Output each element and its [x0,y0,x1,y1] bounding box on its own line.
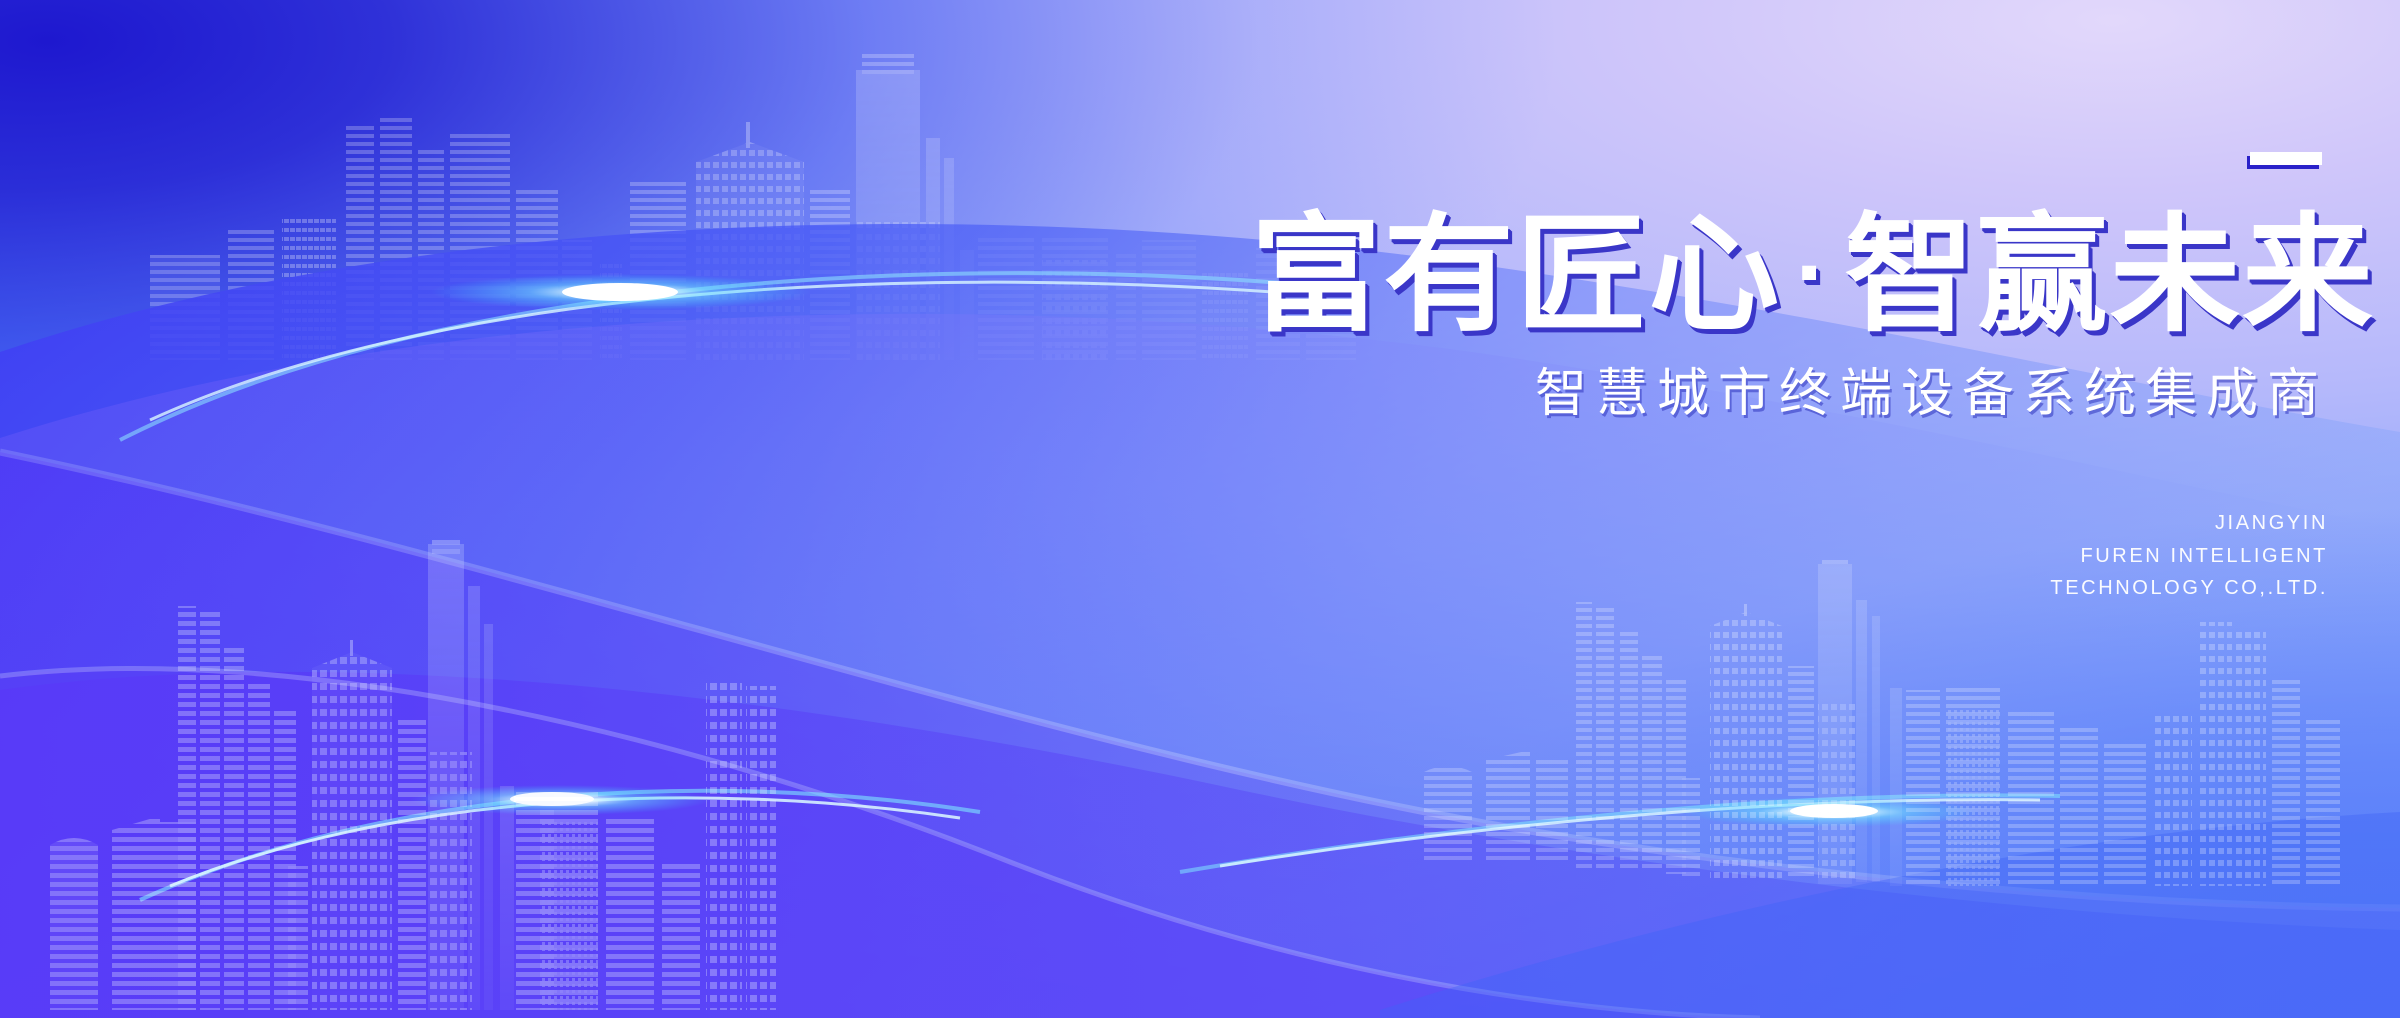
banner-canvas: 富有匠心·智赢未来 智慧城市终端设备系统集成商 JIANGYIN FUREN I… [0,0,2400,1018]
company-suffix: TECHNOLOGY CO,.LTD. [1272,572,2328,604]
page-subtitle: 智慧城市终端设备系统集成商 [1272,366,2328,423]
brand-text-block: 富有匠心·智赢未来 智慧城市终端设备系统集成商 JIANGYIN FUREN I… [1272,152,2332,604]
company-name-block: JIANGYIN FUREN INTELLIGENT TECHNOLOGY CO… [1272,507,2332,604]
city-skyline-bottom-left [20,540,780,1010]
company-city: JIANGYIN [1272,507,2328,539]
headline-right: 智赢未来 [1844,204,2374,347]
page-title: 富有匠心·智赢未来 [1251,212,2332,340]
company-name: FUREN INTELLIGENT [1272,540,2328,572]
headline-left: 富有匠心 [1251,204,1781,347]
accent-dash-icon [2250,152,2322,165]
headline-separator-dot: · [1781,225,1844,321]
accent-dash-row [1272,152,2332,170]
city-skyline-bottom-right [1390,560,2370,890]
